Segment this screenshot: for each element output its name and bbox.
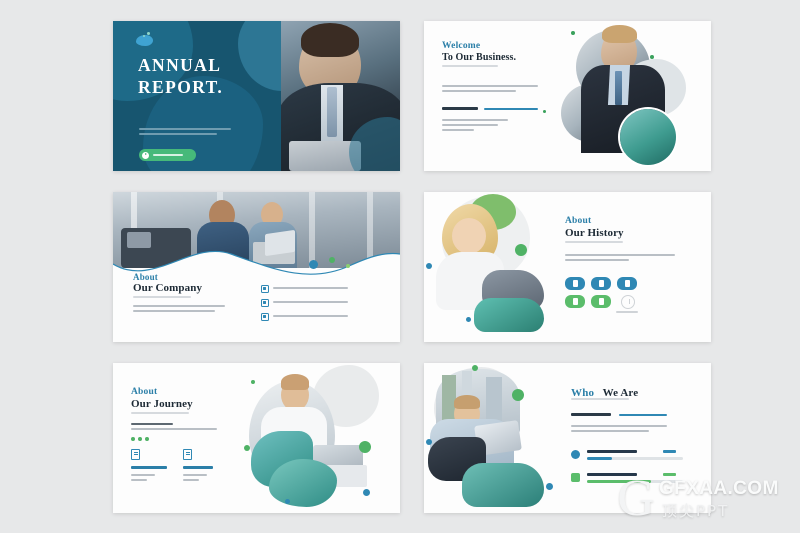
decor-dot (244, 445, 250, 451)
journey-column-body (131, 474, 155, 476)
journey-column-body (131, 479, 147, 481)
stat-label (587, 450, 637, 453)
personal-branding-line (619, 414, 667, 416)
journey-column-title (183, 466, 213, 469)
company-body (133, 305, 225, 315)
who-body (571, 425, 667, 435)
chart-icon[interactable] (565, 277, 585, 290)
check-icon (261, 313, 269, 321)
wave-divider (113, 192, 400, 342)
footer-logo-mark (437, 154, 453, 163)
history-body (565, 254, 675, 264)
company-subtitle (133, 296, 191, 301)
watermark-tagline: 顶尖PPT (662, 500, 729, 521)
decor-dot (543, 110, 546, 113)
company-headline: Our Company (133, 282, 202, 294)
book-icon[interactable] (617, 277, 637, 290)
cover-body (139, 128, 231, 138)
decor-dot (546, 483, 553, 490)
checklist-label (273, 315, 348, 317)
history-photo (430, 200, 560, 332)
decor-dot (571, 31, 575, 35)
checklist-label (273, 287, 348, 289)
decor-dot (359, 441, 371, 453)
slide-about-journey[interactable]: About Our Journey (113, 363, 400, 513)
decor-dot (285, 499, 290, 504)
decor-dot (329, 257, 335, 263)
decor-dot (472, 365, 478, 371)
journey-kicker: About (131, 387, 157, 397)
check-icon (261, 285, 269, 293)
decor-dot (650, 55, 654, 59)
who-subtitle (571, 398, 629, 403)
history-subtitle (565, 241, 623, 246)
decor-dot (131, 437, 135, 441)
cover-title: ANNUAL REPORT. (138, 54, 223, 99)
journey-column-body (183, 479, 199, 481)
personal-branding-label (571, 413, 611, 416)
document-icon (131, 449, 140, 460)
watermark-logo: G (608, 472, 664, 528)
clipboard-icon[interactable] (565, 295, 585, 308)
company-kicker: About (133, 272, 158, 282)
who-photo (428, 367, 560, 507)
watermark: G GFXAA.COM 顶尖PPT (608, 472, 800, 528)
footer-logo-mark (157, 154, 173, 163)
decor-dot (466, 317, 471, 322)
welcome-kicker: Welcome (442, 41, 480, 51)
premium-quality-body (442, 119, 508, 134)
journey-column[interactable] (183, 449, 231, 484)
document-icon (183, 449, 192, 460)
history-headline: Our History (565, 227, 624, 239)
decor-dot (426, 439, 432, 445)
history-kicker: About (565, 216, 591, 226)
phone-icon[interactable] (591, 277, 611, 290)
welcome-subtitle (442, 65, 498, 70)
journey-column-body (183, 474, 207, 476)
footer-logo-mark (124, 325, 140, 334)
footer-logo-mark (424, 154, 436, 163)
welcome-headline: To Our Business. (442, 52, 516, 63)
footer-logo-mark (124, 496, 140, 505)
decor-dot (363, 489, 370, 496)
welcome-body (442, 85, 538, 95)
slide-about-company[interactable]: About Our Company (113, 192, 400, 342)
welcome-photo-accent-circle (620, 109, 676, 165)
decor-dot (515, 244, 527, 256)
stat-value (663, 450, 676, 453)
decor-dot (251, 380, 255, 384)
footer-logo-mark (669, 325, 685, 334)
footer-logo-mark (142, 325, 158, 334)
cover-title-line2: REPORT. (138, 77, 223, 97)
decor-dot (426, 263, 432, 269)
journey-column-title (131, 466, 167, 469)
footer-logo-mark (136, 154, 152, 163)
watermark-domain: GFXAA.COM (659, 478, 779, 500)
gear-icon (571, 450, 580, 459)
check-icon (261, 299, 269, 307)
journey-column[interactable] (131, 449, 179, 484)
decor-dot (138, 437, 142, 441)
cover-brand-mark (136, 32, 156, 46)
premium-quality-label (442, 107, 478, 112)
decor-dot (145, 437, 149, 441)
decor-dot (512, 389, 524, 401)
footer-logo-mark (648, 325, 664, 334)
stat-fill (587, 457, 612, 460)
footer-logo-mark (142, 496, 158, 505)
cover-title-line1: ANNUAL (138, 55, 221, 75)
journey-subtitle (131, 412, 189, 417)
slide-cover[interactable]: ANNUAL REPORT. (113, 21, 400, 171)
decor-dot (346, 264, 350, 268)
journey-body (131, 423, 217, 433)
journey-headline: Our Journey (131, 398, 193, 410)
briefcase-icon (571, 473, 580, 482)
checklist-label (273, 301, 348, 303)
decor-dot (309, 260, 318, 269)
see-more-icon[interactable] (621, 295, 635, 309)
users-icon[interactable] (591, 295, 611, 308)
see-more-label (616, 311, 638, 313)
decor-blob (269, 459, 337, 507)
slide-about-history[interactable]: About Our History (424, 192, 711, 342)
premium-quality-line (484, 108, 538, 110)
slide-preview-board: ANNUAL REPORT. Welcome To Our Business. (0, 0, 800, 533)
slide-welcome[interactable]: Welcome To Our Business. (424, 21, 711, 171)
